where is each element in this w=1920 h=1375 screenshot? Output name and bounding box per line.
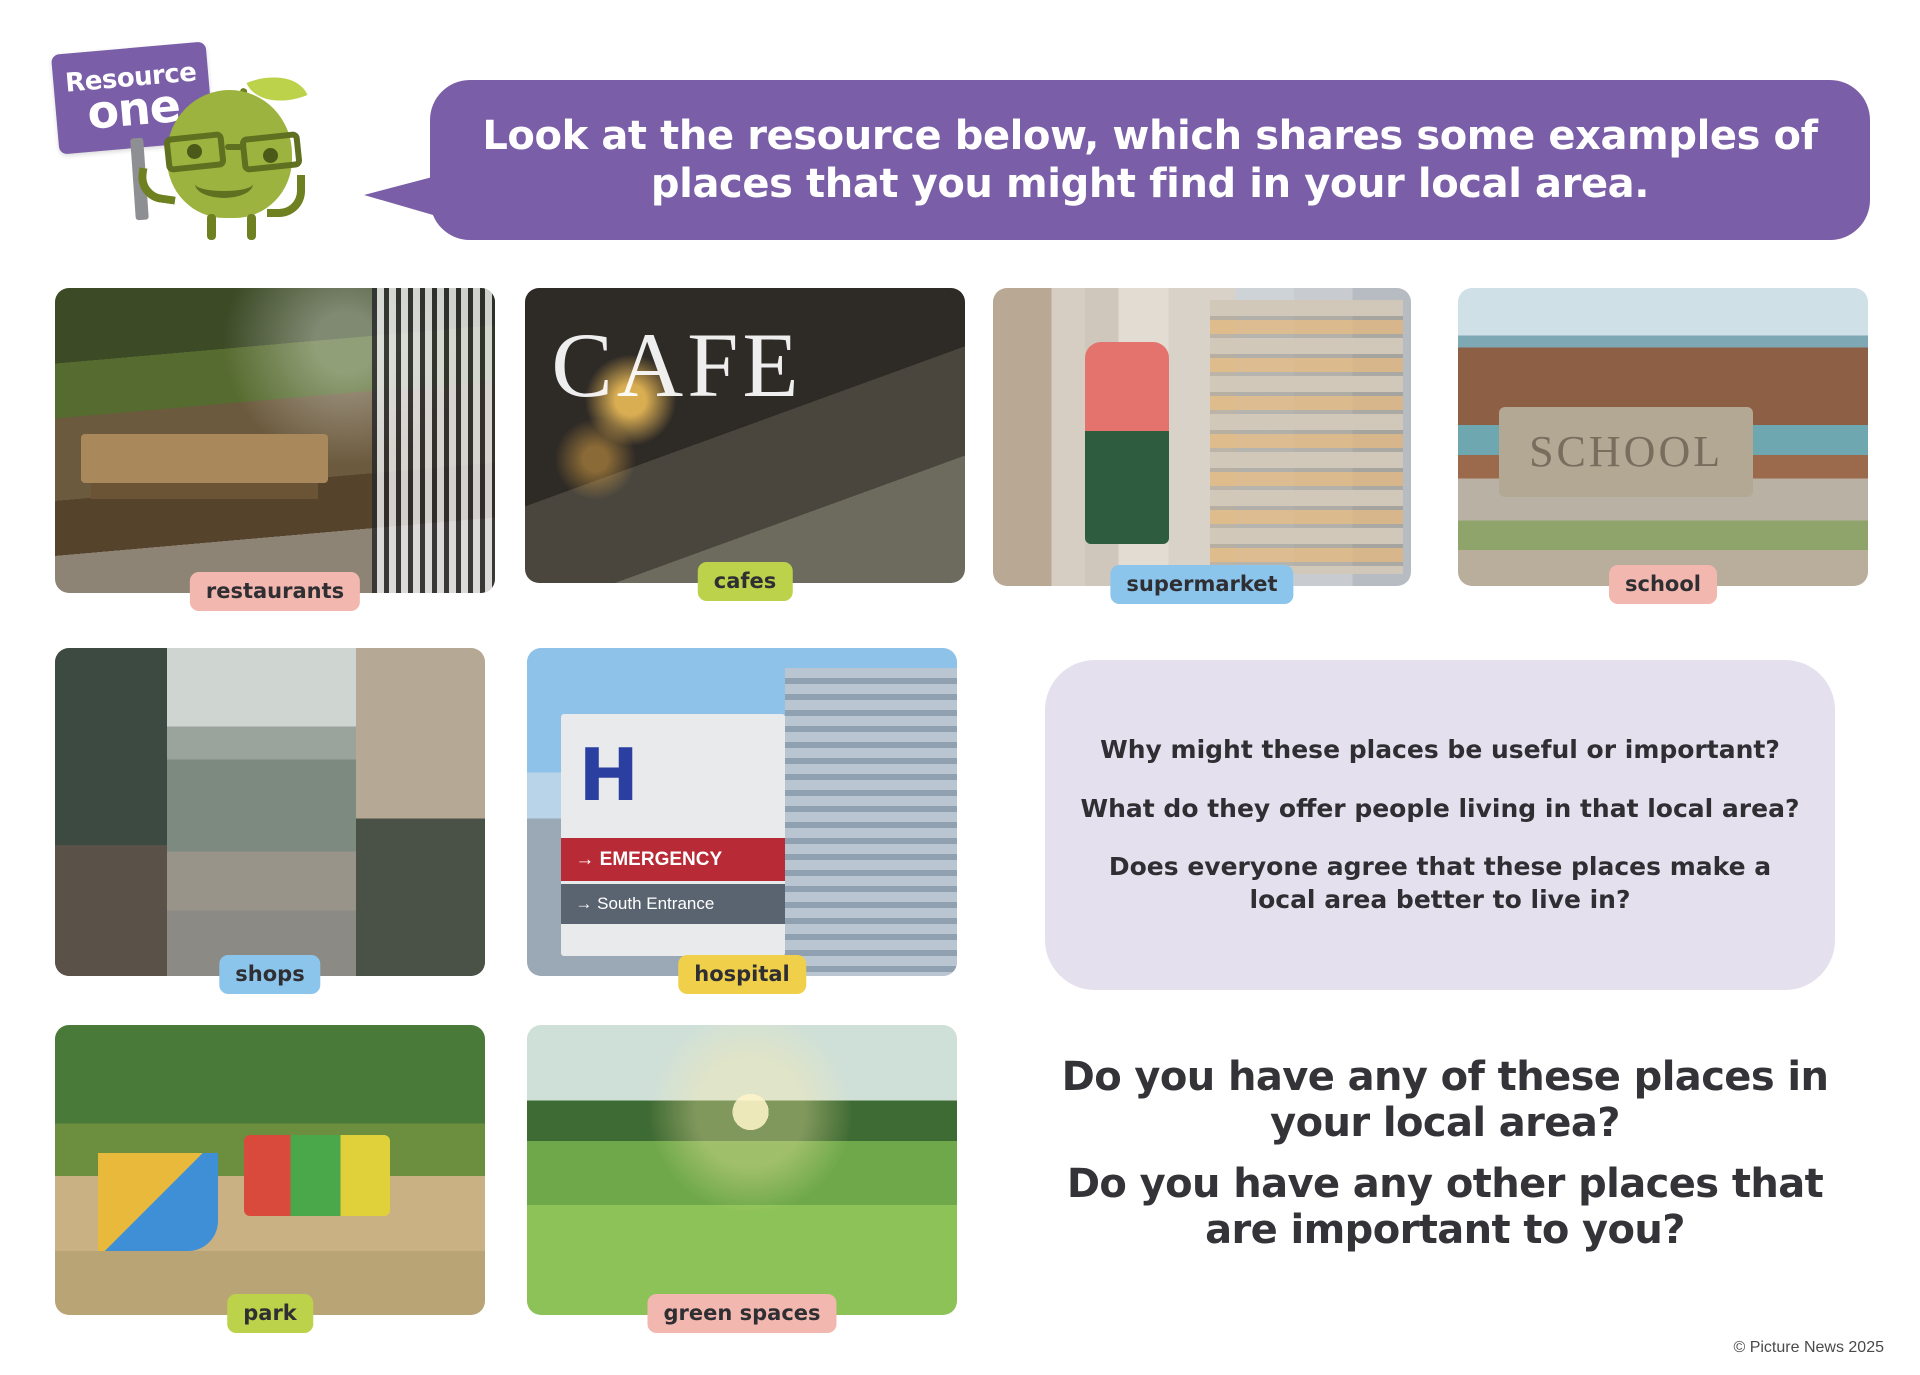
hospital-emergency-label: → EMERGENCY	[561, 838, 785, 881]
glasses-bridge	[225, 144, 243, 150]
discussion-questions-box: Why might these places be useful or impo…	[1045, 660, 1835, 990]
apple-eye-left	[187, 144, 202, 159]
apple-eye-right	[263, 148, 278, 163]
header-speech-bubble: Look at the resource below, which shares…	[430, 80, 1870, 240]
question-1: Why might these places be useful or impo…	[1100, 734, 1780, 767]
speech-bubble-tail	[364, 175, 440, 217]
photo-card-shops: shops	[55, 648, 485, 976]
apple-smile-icon	[195, 170, 253, 198]
photo-card-supermarket: supermarket	[993, 288, 1411, 586]
hospital-emergency-sign-photo: H → EMERGENCY → South Entrance	[527, 648, 957, 976]
badge-school: school	[1609, 565, 1717, 604]
school-overlay-word: SCHOOL	[1499, 407, 1753, 496]
apple-leg-right	[247, 214, 256, 240]
resource-one-logo: Resource one	[55, 30, 355, 260]
cafe-overlay-word: CAFE	[551, 312, 802, 418]
badge-hospital: hospital	[678, 955, 806, 994]
badge-park: park	[227, 1294, 313, 1333]
logo-line-two: one	[86, 85, 182, 134]
green-field-sunset-photo	[527, 1025, 957, 1315]
photo-card-school: SCHOOL school	[1458, 288, 1868, 586]
badge-supermarket: supermarket	[1110, 565, 1293, 604]
apple-leg-left	[207, 214, 216, 240]
hospital-h-letter: H	[579, 733, 639, 817]
prompt-line-1: Do you have any of these places in your …	[1040, 1055, 1850, 1146]
shopping-arcade-photo	[55, 648, 485, 976]
cafe-sign-photo: CAFE	[525, 288, 965, 583]
header-text: Look at the resource below, which shares…	[478, 112, 1822, 208]
prompt-line-2: Do you have any other places that are im…	[1040, 1162, 1850, 1253]
hospital-south-entrance-label: → South Entrance	[561, 884, 785, 923]
school-sign-photo: SCHOOL	[1458, 288, 1868, 586]
photo-card-green-spaces: green spaces	[527, 1025, 957, 1315]
badge-green-spaces: green spaces	[647, 1294, 836, 1333]
badge-restaurants: restaurants	[190, 572, 360, 611]
playground-park-photo	[55, 1025, 485, 1315]
photo-card-park: park	[55, 1025, 485, 1315]
outdoor-restaurant-tables-photo	[55, 288, 495, 593]
hospital-building	[785, 668, 957, 976]
copyright-notice: © Picture News 2025	[1733, 1339, 1884, 1357]
closing-prompt: Do you have any of these places in your …	[1040, 1055, 1850, 1253]
photo-card-restaurants: restaurants	[55, 288, 495, 593]
supermarket-aisle-photo	[993, 288, 1411, 586]
question-2: What do they offer people living in that…	[1081, 793, 1800, 826]
badge-shops: shops	[219, 955, 320, 994]
apple-arm-right	[267, 175, 305, 217]
resource-page: Resource one Look at the resource below,…	[0, 0, 1920, 1375]
photo-card-hospital: H → EMERGENCY → South Entrance hospital	[527, 648, 957, 976]
badge-cafes: cafes	[698, 562, 793, 601]
question-3: Does everyone agree that these places ma…	[1079, 851, 1801, 916]
photo-card-cafes: CAFE cafes	[525, 288, 965, 583]
